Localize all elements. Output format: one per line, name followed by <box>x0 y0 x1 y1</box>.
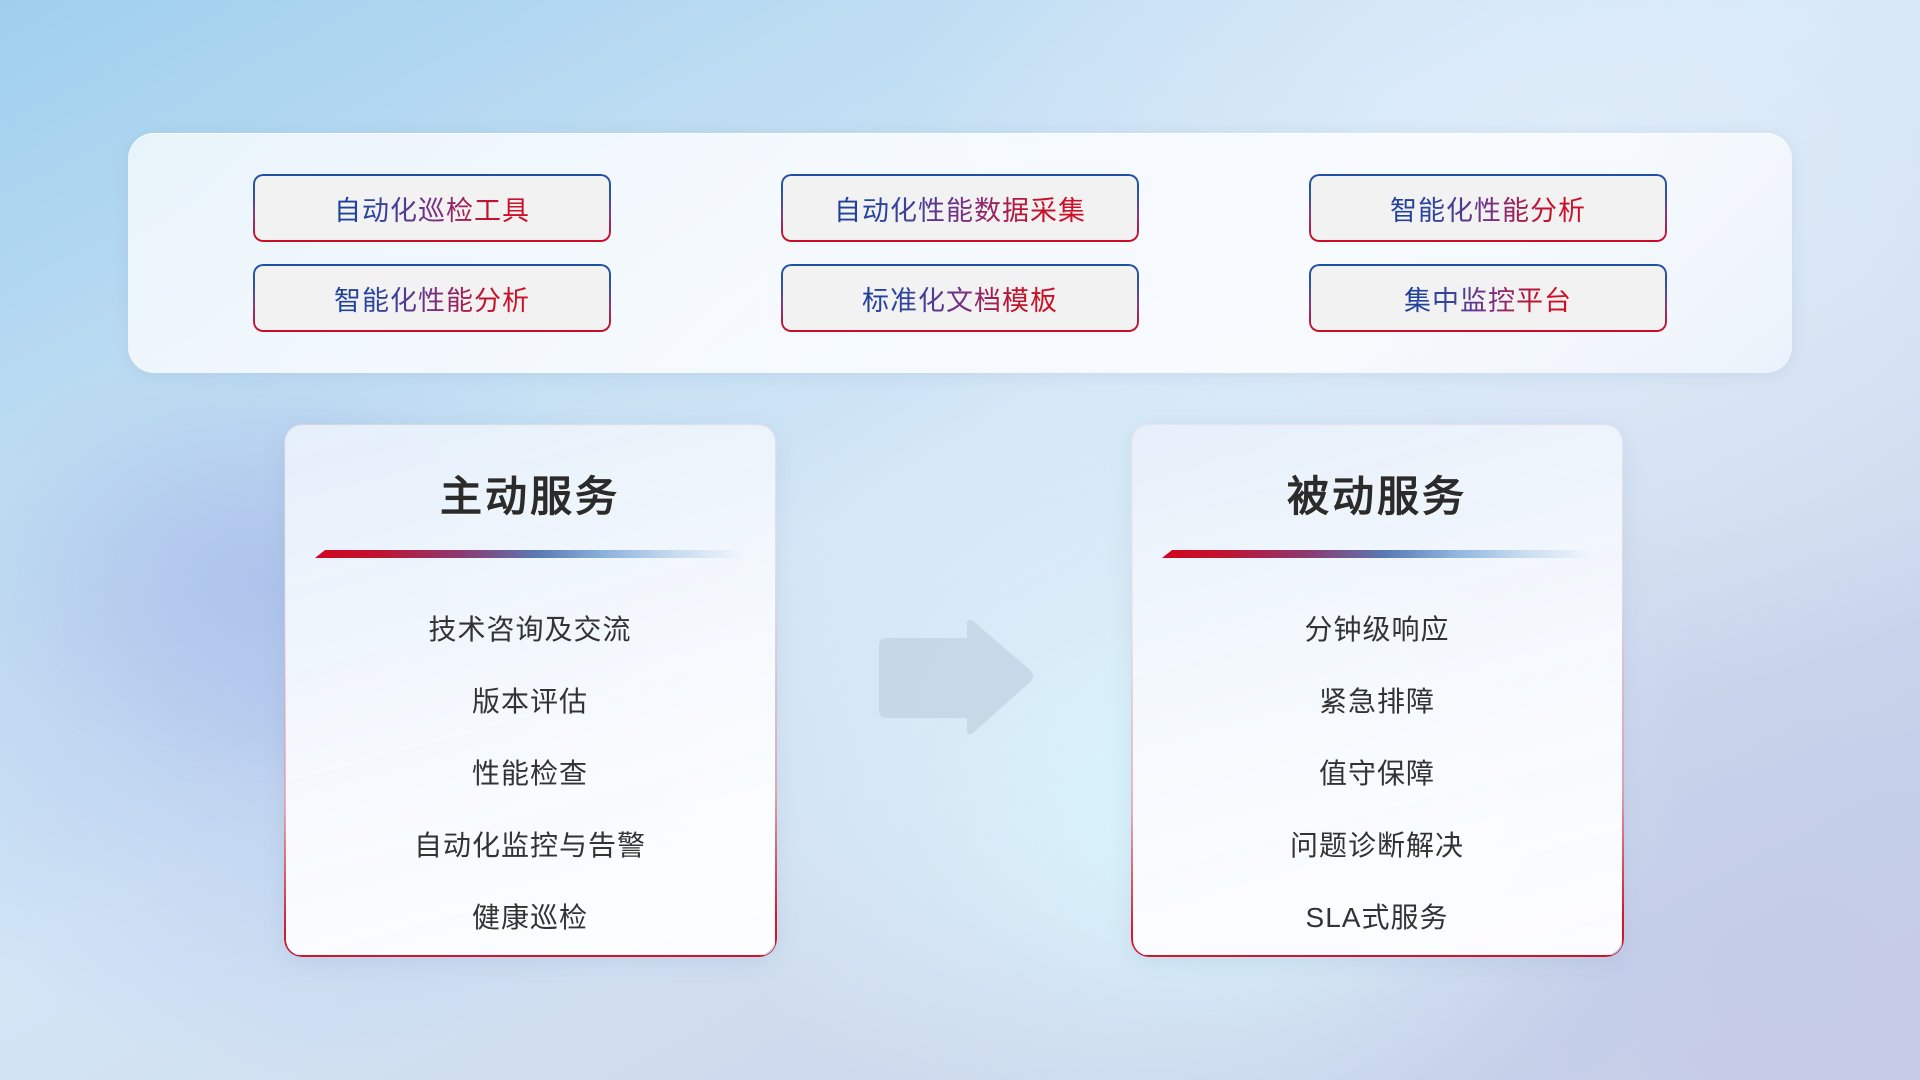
service-card-passive: 被动服务 分钟级响应 紧急排障 值守保障 问题诊断解决 SLA式服务 <box>1131 424 1623 956</box>
capability-pill[interactable]: 自动化巡检工具 <box>253 174 611 242</box>
capability-pill[interactable]: 智能化性能分析 <box>253 264 611 332</box>
capability-pill-label: 智能化性能分析 <box>334 279 530 318</box>
capability-pill[interactable]: 智能化性能分析 <box>1309 174 1667 242</box>
capability-pill-label: 集中监控平台 <box>1404 279 1572 318</box>
capability-row-1: 自动化巡检工具 自动化性能数据采集 智能化性能分析 <box>128 174 1792 242</box>
card-list-item: 技术咨询及交流 <box>428 594 631 666</box>
card-list-item: 性能检查 <box>472 738 588 810</box>
card-list-item: 紧急排障 <box>1319 666 1435 738</box>
slide-canvas: 自动化巡检工具 自动化性能数据采集 智能化性能分析 智能化性能分析 标准化文档模… <box>0 0 1920 1080</box>
capability-pill-label: 自动化巡检工具 <box>334 189 530 228</box>
capability-pill[interactable]: 标准化文档模板 <box>781 264 1139 332</box>
card-list-item: 健康巡检 <box>472 882 588 954</box>
service-card-active: 主动服务 技术咨询及交流 版本评估 性能检查 自动化监控与告警 健康巡检 <box>284 424 776 956</box>
capability-pill-label: 自动化性能数据采集 <box>834 189 1086 228</box>
capability-pill-label: 标准化文档模板 <box>862 279 1058 318</box>
card-list-item: 问题诊断解决 <box>1290 810 1464 882</box>
card-divider <box>315 550 745 558</box>
card-title: 主动服务 <box>285 463 775 524</box>
capability-panel: 自动化巡检工具 自动化性能数据采集 智能化性能分析 智能化性能分析 标准化文档模… <box>128 133 1792 373</box>
card-item-list: 技术咨询及交流 版本评估 性能检查 自动化监控与告警 健康巡检 <box>285 594 775 954</box>
capability-pill-label: 智能化性能分析 <box>1390 189 1586 228</box>
card-list-item: SLA式服务 <box>1306 882 1449 954</box>
card-title: 被动服务 <box>1132 463 1622 524</box>
card-list-item: 自动化监控与告警 <box>414 810 646 882</box>
flow-arrow-right-icon <box>873 618 1036 738</box>
card-list-item: 值守保障 <box>1319 738 1435 810</box>
card-divider <box>1162 550 1592 558</box>
capability-row-2: 智能化性能分析 标准化文档模板 集中监控平台 <box>128 264 1792 332</box>
capability-pill[interactable]: 自动化性能数据采集 <box>781 174 1139 242</box>
card-list-item: 版本评估 <box>472 666 588 738</box>
card-list-item: 分钟级响应 <box>1304 594 1449 666</box>
capability-pill[interactable]: 集中监控平台 <box>1309 264 1667 332</box>
card-item-list: 分钟级响应 紧急排障 值守保障 问题诊断解决 SLA式服务 <box>1132 594 1622 954</box>
